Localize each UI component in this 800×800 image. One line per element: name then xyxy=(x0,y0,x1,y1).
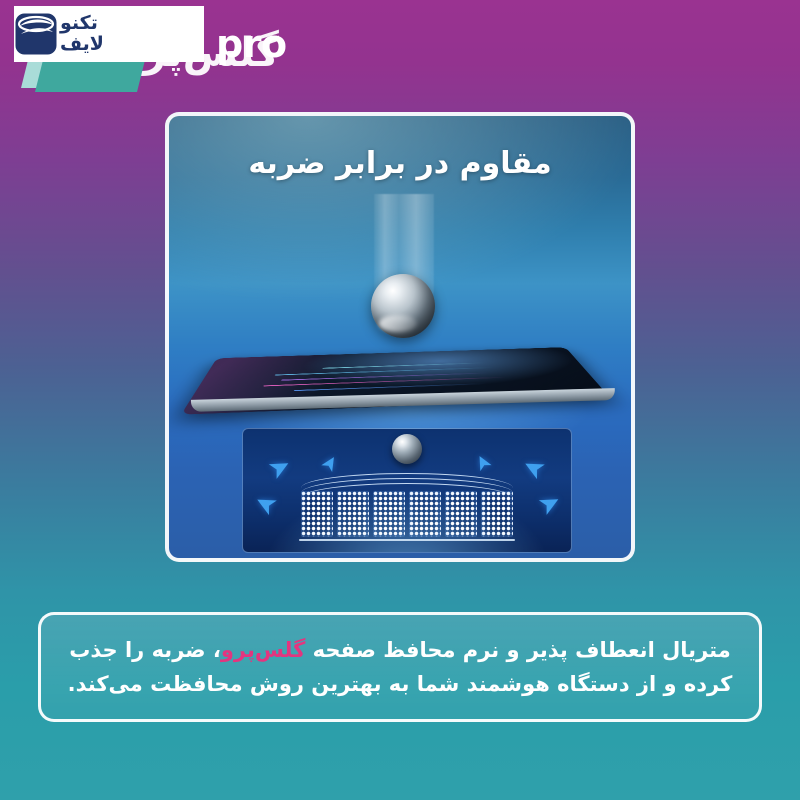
logo-word-line2: لایف xyxy=(60,35,104,54)
energy-arrow-icon: ➤ xyxy=(250,487,281,520)
caption-text: متریال انعطاف پذیر و نرم محافظ صفحه گلس‌… xyxy=(67,633,733,701)
bead-column xyxy=(301,491,333,537)
product-feature-page: گلس‌پرو pro تکنو لایف مقاوم در برابر ضرب… xyxy=(0,0,800,800)
bead-column xyxy=(481,491,513,537)
bead-matrix xyxy=(301,491,513,537)
caption-brand-highlight: گلس‌پرو xyxy=(221,638,305,662)
steel-ball xyxy=(371,274,435,338)
bead-column xyxy=(445,491,477,537)
shock-absorption-diagram: ➤ ➤ ➤ ➤ ➤ ➤ xyxy=(242,428,572,553)
bead-column xyxy=(337,491,369,537)
card-headline: مقاوم در برابر ضربه xyxy=(169,146,631,181)
logo-word-line1: تکنو xyxy=(60,14,98,33)
diagram-base-line xyxy=(299,539,515,541)
energy-arrow-icon: ➤ xyxy=(534,487,565,520)
watermark-logo: تکنو لایف xyxy=(14,6,204,62)
brand-latin-text: pro xyxy=(216,22,287,66)
energy-arrow-icon: ➤ xyxy=(470,451,496,475)
energy-arrow-icon: ➤ xyxy=(264,451,295,484)
techno-life-mark-icon xyxy=(14,12,58,56)
caption-part-1: متریال انعطاف پذیر و نرم محافظ صفحه xyxy=(305,638,730,662)
screen-streak xyxy=(294,383,487,391)
energy-arrow-icon: ➤ xyxy=(518,451,549,484)
logo-wordmark: تکنو لایف xyxy=(60,14,104,54)
caption-box: متریال انعطاف پذیر و نرم محافظ صفحه گلس‌… xyxy=(38,612,762,722)
card-scene: مقاوم در برابر ضربه xyxy=(169,116,631,558)
bead-column xyxy=(409,491,441,537)
bead-column xyxy=(373,491,405,537)
energy-arrow-icon: ➤ xyxy=(316,451,342,476)
feature-image-card: مقاوم در برابر ضربه xyxy=(165,112,635,562)
impact-ball-icon xyxy=(392,434,422,464)
